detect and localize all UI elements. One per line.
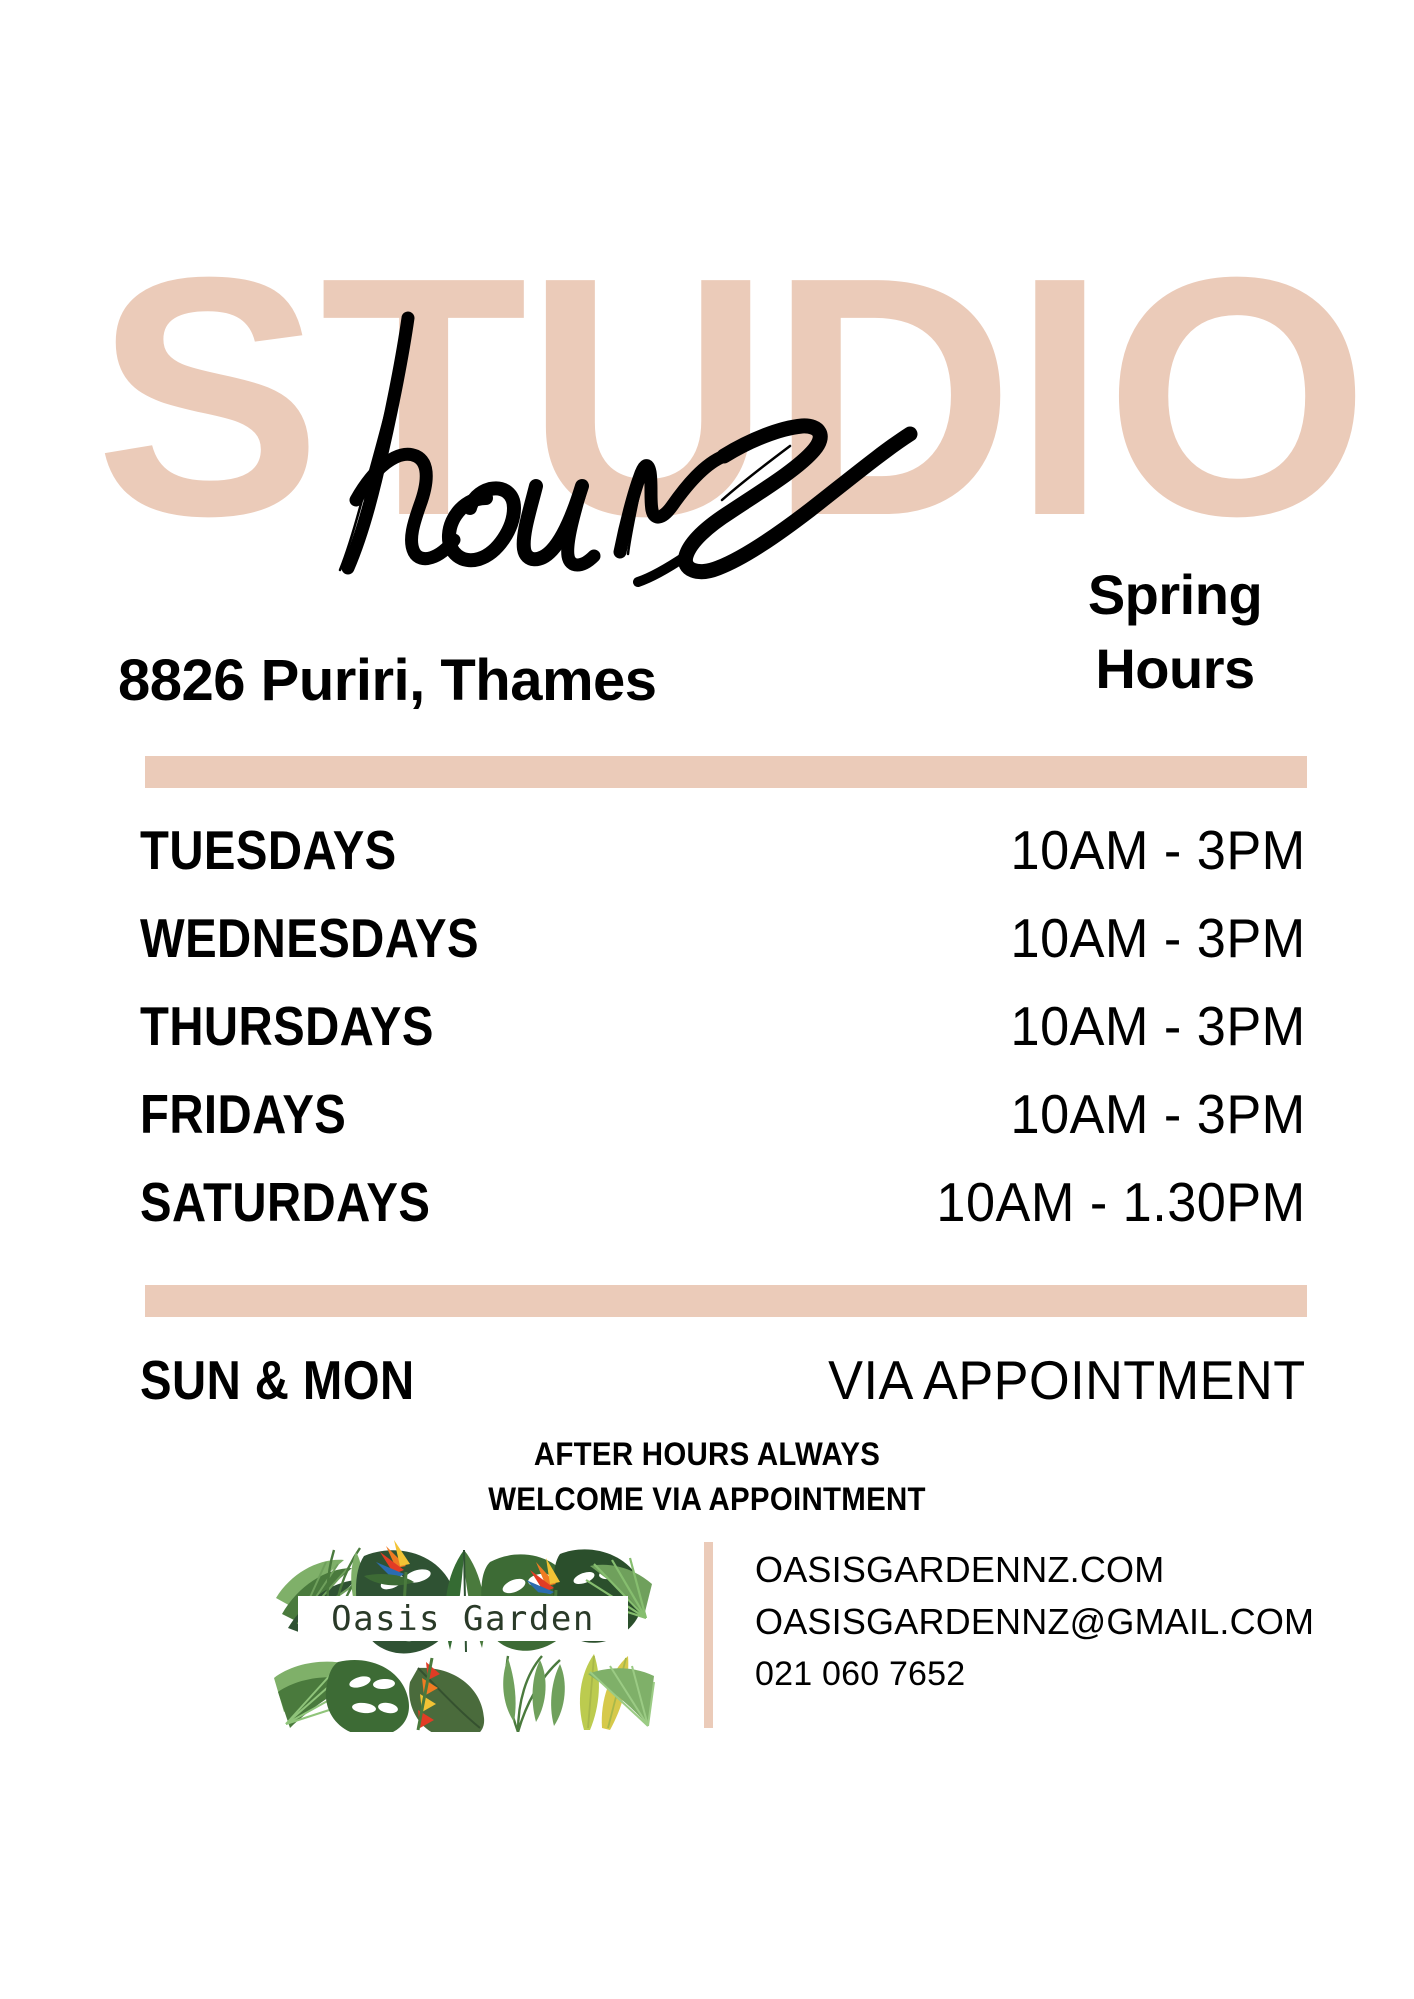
schedule-day: THURSDAYS <box>140 994 434 1058</box>
schedule-time: 10AM - 3PM <box>1011 994 1306 1058</box>
studio-headline: STUDIO <box>95 232 1315 562</box>
contact-block: OASISGARDENNZ.COM OASISGARDENNZ@GMAIL.CO… <box>755 1544 1355 1700</box>
schedule-day: WEDNESDAYS <box>140 906 479 970</box>
poster-header: STUDIO <box>0 0 1414 745</box>
appointment-value: VIA APPOINTMENT <box>829 1348 1306 1412</box>
poster-footer: Oasis Garden OASISGARDENNZ.COM OASISGARD… <box>0 1532 1414 1752</box>
note-line-2: WELCOME VIA APPOINTMENT <box>57 1477 1358 1522</box>
schedule-time: 10AM - 3PM <box>1011 906 1306 970</box>
address-line: 8826 Puriri, Thames <box>118 650 657 712</box>
contact-phone[interactable]: 021 060 7652 <box>755 1648 1355 1700</box>
schedule-time: 10AM - 3PM <box>1011 818 1306 882</box>
note-line-1: AFTER HOURS ALWAYS <box>57 1432 1358 1477</box>
table-row: FRIDAYS 10AM - 3PM <box>0 1070 1414 1158</box>
oasis-garden-logo: Oasis Garden <box>268 1532 658 1732</box>
footer-divider <box>704 1542 713 1728</box>
season-line-1: Spring <box>1020 558 1330 632</box>
schedule-day: FRIDAYS <box>140 1082 346 1146</box>
logo-wordmark-text: Oasis Garden <box>331 1599 595 1639</box>
schedule-day: TUESDAYS <box>140 818 397 882</box>
schedule-time: 10AM - 3PM <box>1011 1082 1306 1146</box>
divider-bar-top <box>145 756 1307 788</box>
schedule-time: 10AM - 1.30PM <box>937 1170 1306 1234</box>
schedule-day: SATURDAYS <box>140 1170 430 1234</box>
contact-website[interactable]: OASISGARDENNZ.COM <box>755 1544 1355 1596</box>
schedule-list: TUESDAYS 10AM - 3PM WEDNESDAYS 10AM - 3P… <box>0 806 1414 1246</box>
table-row: THURSDAYS 10AM - 3PM <box>0 982 1414 1070</box>
table-row: TUESDAYS 10AM - 3PM <box>0 806 1414 894</box>
poster-root: STUDIO <box>0 0 1414 1999</box>
appointment-row: SUN & MON VIA APPOINTMENT <box>0 1330 1414 1412</box>
table-row: SATURDAYS 10AM - 1.30PM <box>0 1158 1414 1246</box>
divider-bar-bottom <box>145 1285 1307 1317</box>
season-label: Spring Hours <box>1020 558 1330 706</box>
contact-email[interactable]: OASISGARDENNZ@GMAIL.COM <box>755 1596 1355 1648</box>
appointment-day: SUN & MON <box>140 1348 415 1412</box>
table-row: WEDNESDAYS 10AM - 3PM <box>0 894 1414 982</box>
season-line-2: Hours <box>1020 632 1330 706</box>
after-hours-note: AFTER HOURS ALWAYS WELCOME VIA APPOINTME… <box>0 1432 1414 1522</box>
